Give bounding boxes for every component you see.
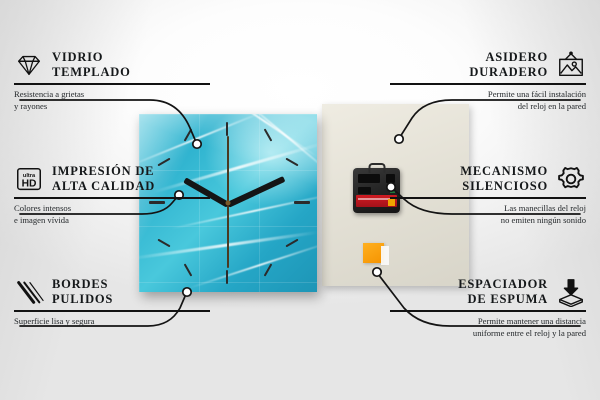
feature-bordes-pulidos: BORDES PULIDOS Superficie lisa y segura <box>14 277 210 328</box>
feature-espaciador-de-espuma: ESPACIADOR DE ESPUMA Permite mantener un… <box>390 277 586 339</box>
feature-description: Permite una fácil instalación del reloj … <box>390 89 586 112</box>
foam-spacer-pad <box>363 243 384 263</box>
feature-impresion-alta-calidad: ultra HD IMPRESIÓN DE ALTA CALIDAD Color… <box>14 164 210 226</box>
feature-mecanismo-silencioso: MECANISMO SILENCIOSO Las manecillas del … <box>390 164 586 226</box>
feature-title: MECANISMO SILENCIOSO <box>460 164 548 194</box>
picture-hanger-icon <box>556 50 586 80</box>
feature-divider <box>14 197 210 199</box>
feature-divider <box>390 310 586 312</box>
movement-hanger-tab <box>368 163 385 173</box>
polished-edges-icon <box>14 277 44 307</box>
feature-title: VIDRIO TEMPLADO <box>52 50 131 80</box>
feature-description: Superficie lisa y segura <box>14 316 210 328</box>
feature-divider <box>14 83 210 85</box>
foam-spacer-arrow-icon <box>556 277 586 307</box>
feature-description: Las manecillas del reloj no emiten ningú… <box>390 203 586 226</box>
feature-asidero-duradero: ASIDERO DURADERO Permite una fácil insta… <box>390 50 586 112</box>
feature-divider <box>390 197 586 199</box>
feature-title: IMPRESIÓN DE ALTA CALIDAD <box>52 164 155 194</box>
feature-title: ESPACIADOR DE ESPUMA <box>458 277 548 307</box>
clock-tick <box>226 122 228 136</box>
feature-description: Permite mantener una distancia uniforme … <box>390 316 586 339</box>
clock-center-pivot <box>226 201 231 206</box>
infographic-canvas: VIDRIO TEMPLADO Resistencia a grietas y … <box>0 0 600 400</box>
feature-description: Resistencia a grietas y rayones <box>14 89 210 112</box>
clock-tick <box>294 201 310 204</box>
feature-title: BORDES PULIDOS <box>52 277 113 307</box>
clock-tick <box>226 270 228 284</box>
feature-description: Colores intensos e imagen vívida <box>14 203 210 226</box>
diamond-icon <box>14 50 44 80</box>
ultra-hd-badge-main: HD <box>22 179 37 190</box>
gear-icon <box>556 164 586 194</box>
ultra-hd-badge-icon: ultra HD <box>14 164 44 194</box>
feature-title: ASIDERO DURADERO <box>469 50 548 80</box>
feature-divider <box>390 83 586 85</box>
feature-divider <box>14 310 210 312</box>
feature-vidrio-templado: VIDRIO TEMPLADO Resistencia a grietas y … <box>14 50 210 112</box>
